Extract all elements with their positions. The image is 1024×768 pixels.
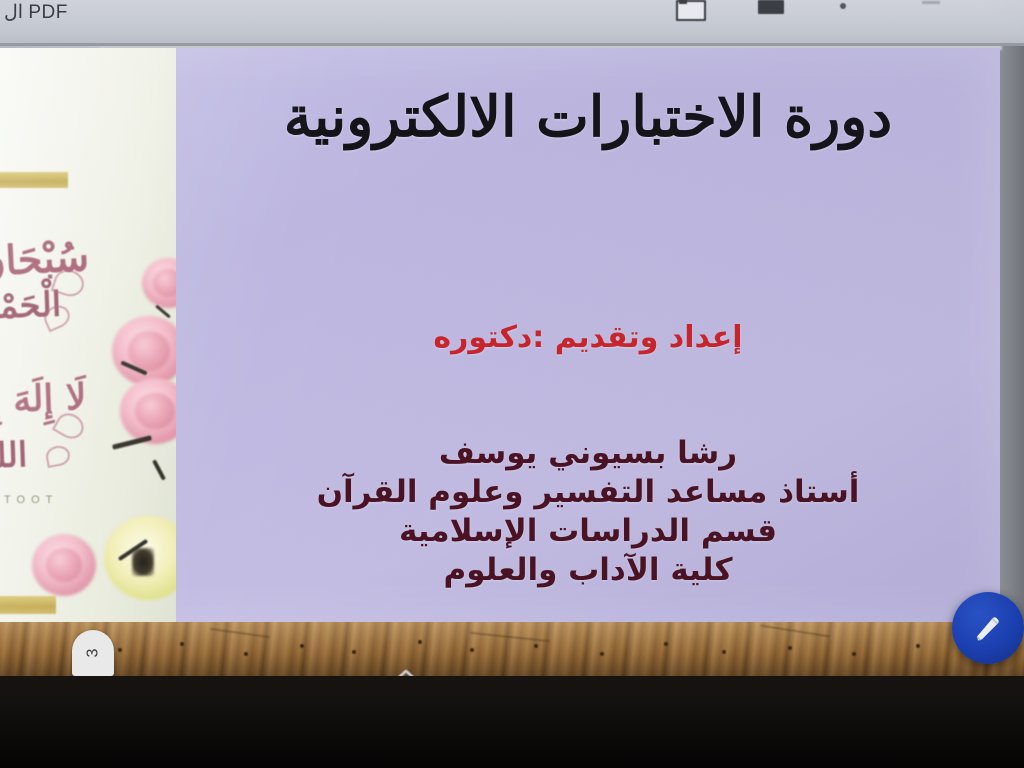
toolbar-pdf-label: ال PDF — [4, 1, 68, 24]
rose-decoration — [112, 316, 176, 386]
gold-accent-bar-top — [0, 172, 68, 188]
bezel-sheen — [0, 676, 1024, 706]
slide-decorative-band: سُبْحَانَ الْحَمْدُ لَا إِلَهَ إِلَّا ال… — [0, 48, 176, 626]
slide-presenter-label: إعداد وتقديم :دكتوره — [176, 320, 1000, 355]
slide-detail-line: قسم الدراسات الإسلامية — [176, 512, 1000, 551]
gold-accent-bar-bottom — [0, 596, 56, 614]
calligraphy-line-4: اللهُ — [0, 435, 28, 477]
slide-detail-line: أستاذ مساعد التفسير وعلوم القرآن — [176, 473, 1000, 512]
slide-content: دورة الاختبارات الالكترونية إعداد وتقديم… — [176, 48, 1000, 626]
presentation-slide[interactable]: سُبْحَانَ الْحَمْدُ لَا إِلَهَ إِلَّا ال… — [0, 48, 1000, 626]
window-filled-icon[interactable] — [758, 0, 784, 14]
wall-right-surface — [998, 26, 1024, 626]
slide-title: دورة الاختبارات الالكترونية — [176, 86, 1000, 149]
page-number-label: 3 — [84, 649, 102, 658]
display-bezel: Promethean ⏻ — [0, 676, 1024, 768]
window-outline-icon[interactable] — [676, 0, 706, 21]
pencil-edit-button[interactable] — [952, 592, 1024, 664]
slide-detail-line: كلية الآداب والعلوم — [176, 551, 1000, 590]
app-toolbar: ال PDF — [0, 0, 1024, 46]
slide-detail-lines: رشا بسيوني يوسف أستاذ مساعد التفسير وعلو… — [176, 434, 1000, 590]
wooden-shelf — [0, 622, 1024, 680]
whiteboard-photo-scene: ال PDF سُبْحَانَ الْحَمْدُ لَا إِلَهَ إِ… — [0, 0, 1024, 768]
pencil-icon — [971, 611, 1005, 645]
slide-detail-line: رشا بسيوني يوسف — [176, 434, 1000, 473]
flower-center-shadow — [132, 548, 154, 576]
page-number-tab[interactable]: 3 — [72, 630, 114, 676]
faint-control-icon[interactable] — [922, 1, 940, 4]
rose-decoration — [32, 534, 96, 596]
dot-indicator-icon — [840, 3, 846, 9]
calligraphy-caption: TOOT — [4, 494, 58, 506]
